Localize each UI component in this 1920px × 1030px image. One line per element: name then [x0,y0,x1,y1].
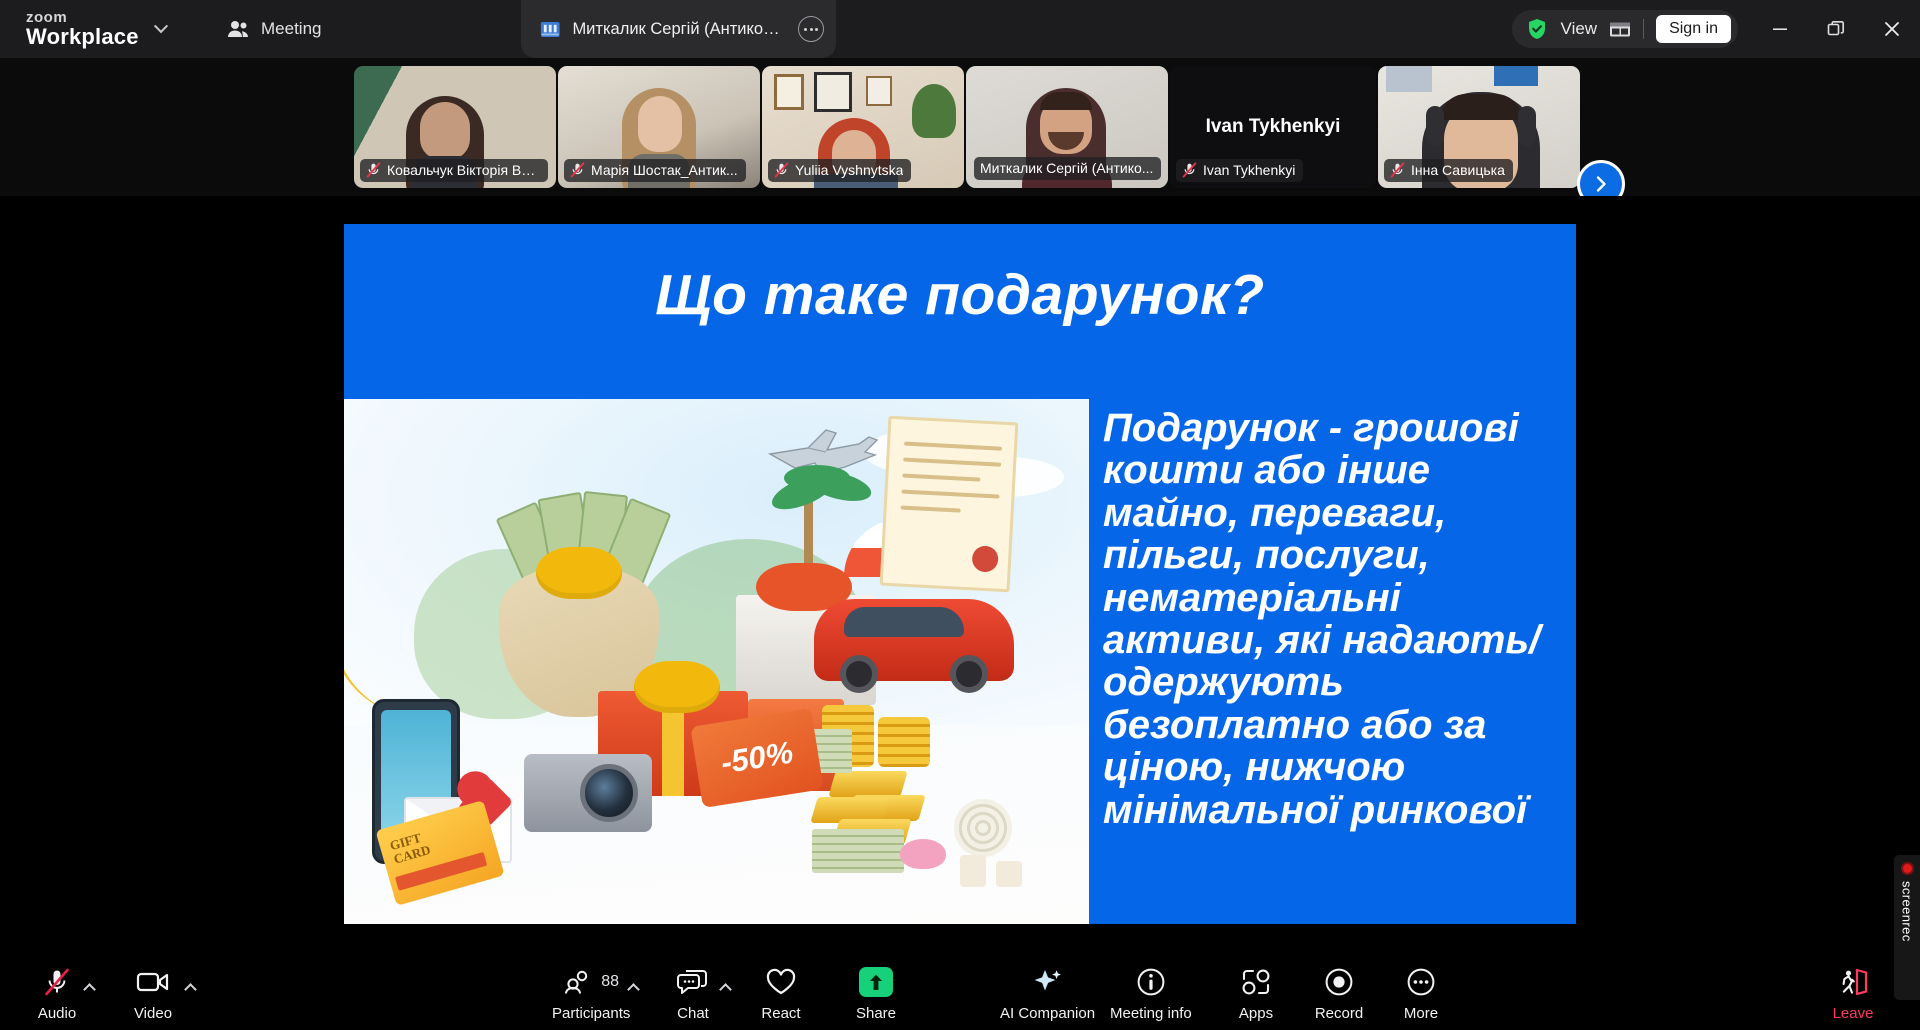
chat-bubble-icon [677,965,709,999]
discount-tag: -50% [690,708,823,808]
participant-name-chip: Ковальчук Вікторія Ва... [360,159,548,182]
participant-name-chip: Миткалик Сергій (Антико... [974,157,1161,180]
brand-workplace-text: Workplace [26,25,142,48]
ai-companion-button[interactable]: AI Companion [1000,965,1095,1022]
discount-tag-text: -50% [718,735,795,782]
participant-tile[interactable]: Ковальчук Вікторія Ва... [354,66,556,188]
gold-bow-shape [634,661,720,713]
workspace-switcher-button[interactable] [146,14,176,44]
info-icon [1136,965,1166,999]
more-icon [1406,965,1436,999]
cash-bundle [812,829,904,873]
participant-name-placeholder: Ivan Tykhenkyi [1206,116,1341,138]
meeting-tab-icon [539,17,561,42]
sign-in-button[interactable]: Sign in [1656,15,1731,43]
mic-muted-icon [41,965,73,999]
slide-title: Що таке подарунок? [344,262,1576,328]
more-button[interactable]: More [1390,965,1452,1022]
tab-more-icon[interactable] [798,16,824,42]
participant-name-chip: Інна Савицька [1384,159,1513,182]
red-car-shape [814,599,1014,681]
mic-muted-icon [1390,162,1405,178]
participant-name: Марія Шостак_Антик... [591,162,738,178]
candle-shape [996,861,1022,887]
chevron-up-icon [184,983,197,996]
restore-icon [1826,19,1846,39]
chevron-right-icon [1591,174,1611,194]
pill-divider [1643,19,1644,39]
video-label: Video [134,1005,172,1022]
airplane-icon [764,424,884,470]
slide-body: -50% GIFT CARD [344,399,1576,924]
brand-zoom-text: zoom [26,10,142,26]
view-label[interactable]: View [1561,19,1598,39]
people-icon [226,19,250,39]
participants-count: 88 [601,973,619,991]
gift-illustration-image: -50% GIFT CARD [344,399,1089,924]
certificate-document [880,416,1019,593]
camera-shape [524,754,652,832]
leave-meeting-icon [1836,965,1870,999]
layout-grid-icon[interactable] [1609,19,1631,39]
record-dot-icon [1901,862,1914,875]
leave-button[interactable]: Leave [1822,965,1884,1022]
chevron-down-icon [154,19,168,33]
more-label: More [1404,1005,1438,1022]
ai-sparkle-icon [1031,965,1065,999]
record-icon [1324,965,1354,999]
gold-bar [828,771,907,797]
share-button[interactable]: Share [845,965,907,1022]
participant-name-chip: Yuliia Vyshnytska [768,159,911,182]
maximize-button[interactable] [1808,0,1864,58]
audio-options-button[interactable] [78,978,100,1000]
apps-button[interactable]: Apps [1225,965,1287,1022]
audio-label: Audio [38,1005,76,1022]
app-brand: zoom Workplace [26,10,142,49]
chat-label: Chat [677,1005,709,1022]
candle-shape [960,855,986,887]
slide-body-text: Подарунок - грошові кошти або інше майно… [1089,399,1576,924]
view-controls-pill: View Sign in [1512,10,1738,48]
meeting-info-button[interactable]: Meeting info [1110,965,1192,1022]
participant-tile[interactable]: Інна Савицька [1378,66,1580,188]
shared-screen-stage: Що таке подарунок? [0,196,1920,946]
participant-name: Yuliia Vyshnytska [795,162,903,178]
video-camera-icon [136,965,170,999]
participant-tile[interactable]: Марія Шостак_Антик... [558,66,760,188]
participants-label: Participants [552,1005,630,1022]
apps-icon [1240,965,1272,999]
meeting-info-label: Meeting info [1110,1005,1192,1022]
ai-companion-label: AI Companion [1000,1005,1095,1022]
coin-stack [878,717,930,767]
gold-bow-shape [536,547,622,599]
video-button[interactable]: Video [122,965,184,1022]
meeting-tab-title: Миткалик Сергій (Антикорупцій [572,20,787,39]
minimize-icon [1771,20,1789,38]
participant-name: Інна Савицька [1411,162,1505,178]
meeting-nav-item[interactable]: Meeting [216,13,331,45]
chevron-up-icon [83,983,96,996]
participants-options-button[interactable] [622,978,644,1000]
leave-label: Leave [1833,1005,1874,1022]
presentation-slide: Що таке подарунок? [344,224,1576,924]
close-button[interactable] [1864,0,1920,58]
participant-name: Миткалик Сергій (Антико... [980,160,1153,176]
meeting-tab[interactable]: Миткалик Сергій (Антикорупцій [521,0,836,58]
share-label: Share [856,1005,896,1022]
shield-check-icon[interactable] [1525,17,1549,41]
screenrec-watermark: screenrec [1894,855,1920,1000]
mic-muted-icon [1182,162,1197,178]
close-icon [1882,19,1902,39]
screenrec-label: screenrec [1900,881,1915,942]
participant-name-chip: Ivan Tykhenkyi [1176,159,1303,182]
apps-label: Apps [1239,1005,1273,1022]
mic-muted-icon [774,162,789,178]
lotus-flower-shape [900,839,946,869]
participant-filmstrip: Ковальчук Вікторія Ва... Марія Шостак_ [0,58,1920,196]
participant-name-chip: Марія Шостак_Антик... [564,159,746,182]
video-options-button[interactable] [179,978,201,1000]
meeting-nav-label: Meeting [261,19,321,39]
participant-name: Ковальчук Вікторія Ва... [387,162,540,178]
participant-tile-active-speaker[interactable]: Миткалик Сергій (Антико... [966,66,1168,188]
wax-seal-shape [972,545,999,572]
chat-options-button[interactable] [714,978,736,1000]
record-label: Record [1315,1005,1363,1022]
meeting-toolbar: Audio Video 88 [0,946,1920,1030]
chevron-up-icon [719,983,732,996]
heart-icon [765,965,797,999]
record-button[interactable]: Record [1308,965,1370,1022]
zoom-meeting-window: zoom Workplace Meeting Миткалик Се [0,0,1920,1030]
participant-tile[interactable]: Ivan Tykhenkyi Ivan Tykhenkyi [1170,66,1376,188]
react-label: React [761,1005,800,1022]
participant-tile[interactable]: Yuliia Vyshnytska [762,66,964,188]
window-controls-area: View Sign in [1512,0,1920,58]
mic-muted-icon [570,162,585,178]
share-screen-icon [859,965,893,999]
react-button[interactable]: React [750,965,812,1022]
minimize-button[interactable] [1752,0,1808,58]
participant-name: Ivan Tykhenkyi [1203,162,1295,178]
mic-muted-icon [366,162,381,178]
title-bar: zoom Workplace Meeting Миткалик Се [0,0,1920,58]
participants-icon: 88 [563,965,619,999]
chevron-up-icon [627,983,640,996]
palm-leaf-shape [784,465,850,491]
participants-button[interactable]: 88 Participants [552,965,630,1022]
spa-towel-shape [954,799,1012,857]
